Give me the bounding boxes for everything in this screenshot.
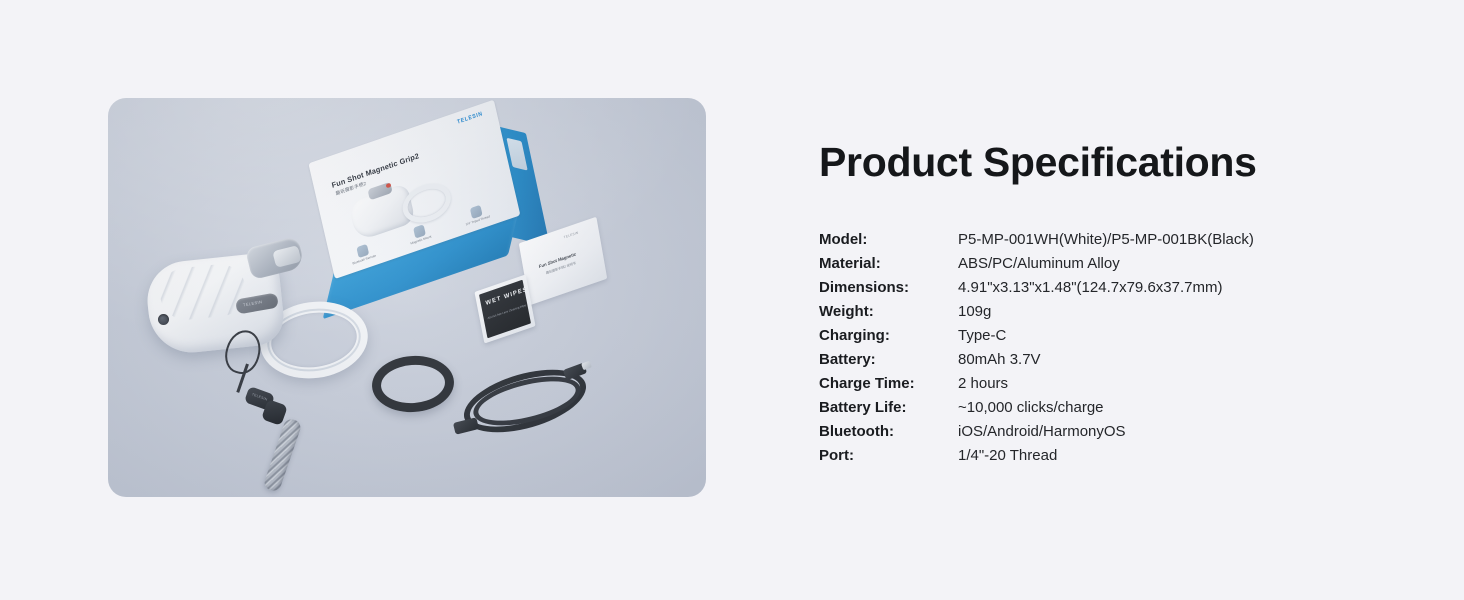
spec-label-dimensions: Dimensions:: [819, 279, 958, 303]
magnetic-adapter-ring: [370, 353, 456, 415]
lanyard-braided-strap: [262, 417, 302, 493]
wrist-lanyard: TELESIN: [216, 330, 326, 492]
spec-value-bluetooth: iOS/Android/HarmonyOS: [958, 423, 1254, 447]
specifications-table: Model: P5-MP-001WH(White)/P5-MP-001BK(Bl…: [819, 231, 1254, 471]
manual-brand-logo: TELESIN: [564, 230, 579, 239]
box-feature-3: 1/4" Tripod Thread: [458, 201, 494, 229]
table-row: Charge Time: 2 hours: [819, 375, 1254, 399]
table-row: Port: 1/4"-20 Thread: [819, 447, 1254, 471]
brand-logo: TELESIN: [457, 111, 484, 126]
spec-label-charging: Charging:: [819, 327, 958, 351]
table-row: Dimensions: 4.91"x3.13"x1.48"(124.7x79.6…: [819, 279, 1254, 303]
table-row: Weight: 109g: [819, 303, 1254, 327]
cable-plug-tip: [581, 361, 592, 371]
spec-label-battery-life: Battery Life:: [819, 399, 958, 423]
grip-charging-port: [158, 314, 169, 325]
table-row: Material: ABS/PC/Aluminum Alloy: [819, 255, 1254, 279]
spec-value-charge-time: 2 hours: [958, 375, 1254, 399]
table-row: Model: P5-MP-001WH(White)/P5-MP-001BK(Bl…: [819, 231, 1254, 255]
spec-value-battery-life: ~10,000 clicks/charge: [958, 399, 1254, 423]
specifications-table-body: Model: P5-MP-001WH(White)/P5-MP-001BK(Bl…: [819, 231, 1254, 471]
spec-value-weight: 109g: [958, 303, 1254, 327]
specifications-section: Product Specifications Model: P5-MP-001W…: [819, 140, 1419, 471]
page-title: Product Specifications: [819, 140, 1419, 186]
cable-plug-usb-a: [453, 417, 479, 434]
usb-c-charging-cable: [452, 360, 612, 456]
lanyard-block-label: TELESIN: [251, 392, 268, 401]
table-row: Bluetooth: iOS/Android/HarmonyOS: [819, 423, 1254, 447]
table-row: Charging: Type-C: [819, 327, 1254, 351]
spec-label-model: Model:: [819, 231, 958, 255]
spec-value-port: 1/4"-20 Thread: [958, 447, 1254, 471]
wet-wipes-packet: WET WIPES Alcohol free Lens Cleaning Wip…: [474, 274, 535, 343]
spec-label-bluetooth: Bluetooth:: [819, 423, 958, 447]
product-photo-panel: Fun Shot Magnetic Grip2 TELESIN Fun Shot…: [108, 98, 706, 497]
grip-pad-brand-label: TELESIN: [243, 299, 263, 307]
spec-value-charging: Type-C: [958, 327, 1254, 351]
spec-label-charge-time: Charge Time:: [819, 375, 958, 399]
spec-label-battery: Battery:: [819, 351, 958, 375]
box-side-image-2: [506, 138, 527, 171]
spec-value-battery: 80mAh 3.7V: [958, 351, 1254, 375]
spec-label-weight: Weight:: [819, 303, 958, 327]
spec-value-material: ABS/PC/Aluminum Alloy: [958, 255, 1254, 279]
table-row: Battery: 80mAh 3.7V: [819, 351, 1254, 375]
spec-label-port: Port:: [819, 447, 958, 471]
table-row: Battery Life: ~10,000 clicks/charge: [819, 399, 1254, 423]
spec-label-material: Material:: [819, 255, 958, 279]
product-detail-page: Fun Shot Magnetic Grip2 TELESIN Fun Shot…: [0, 0, 1464, 600]
spec-value-model: P5-MP-001WH(White)/P5-MP-001BK(Black): [958, 231, 1254, 255]
spec-value-dimensions: 4.91"x3.13"x1.48"(124.7x79.6x37.7mm): [958, 279, 1254, 303]
